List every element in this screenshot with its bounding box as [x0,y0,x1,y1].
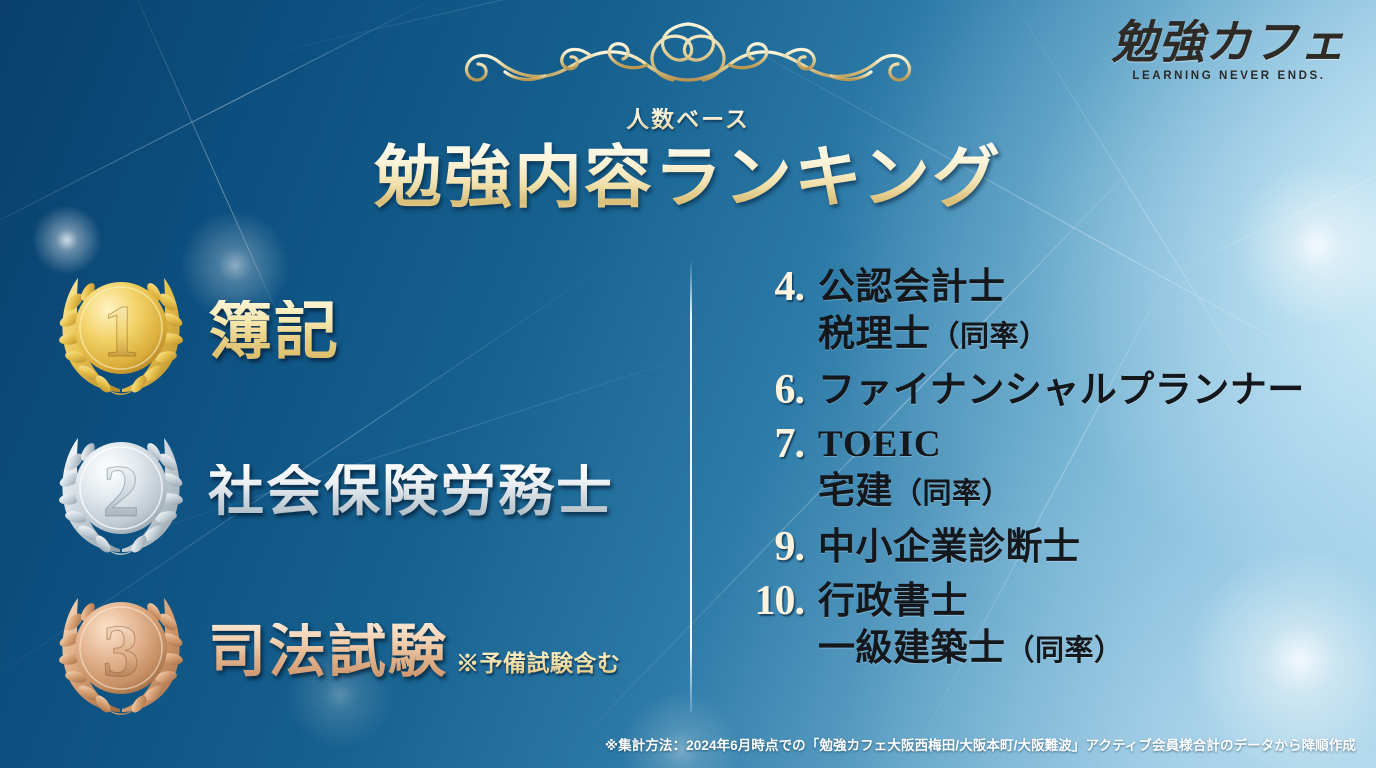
rank-7-name-2: 宅建 [818,471,893,512]
gold-medal-icon: 1 [46,262,196,402]
rank-10-name-2: 一級建築士 [818,628,1006,669]
rank-10-body: 行政書士 一級建築士（同率） [818,576,1124,675]
vertical-divider [690,262,692,712]
rank-7-line-2: 宅建（同率） [818,468,1011,518]
rank-3-note: ※予備試験含む [456,644,621,678]
rank-9-body: 中小企業診断士 [818,522,1081,571]
rank-7-number: 7. [726,419,818,469]
rank-10-line-1: 行政書士 [818,578,1124,625]
top-three-list: 1 簿記 [46,252,686,732]
rank-1-label: 簿記 [208,300,340,364]
rank-row-3: 3 司法試験 ※予備試験含む [46,572,686,732]
methodology-footnote: ※集計方法：2024年6月時点での「勉強カフェ大阪西梅田/大阪本町/大阪難波」ア… [605,734,1356,754]
rank-9-number: 9. [726,522,818,572]
rank-1-name: 簿記 [208,300,340,364]
svg-text:2: 2 [103,451,140,533]
logo-tagline: LEARNING NEVER ENDS. [1104,70,1354,82]
rank-10-tie-2: （同率） [1006,635,1124,667]
rank-row-6: 6. ファイナンシャルプランナー [726,365,1356,415]
rank-4-line-1: 公認会計士 [818,264,1049,311]
rank-row-1: 1 簿記 [46,252,686,412]
rank-row-7: 7. TOEIC 宅建（同率） [726,419,1356,518]
title-block: 人数ベース 勉強内容ランキング [0,108,1376,216]
rank-10-number: 10. [726,576,818,626]
flourish-ornament-icon [453,18,923,104]
logo-wordmark: 勉強カフェ [1104,18,1354,66]
rank-3-label: 司法試験 ※予備試験含む [208,623,621,681]
svg-text:1: 1 [103,291,140,373]
rank-7-tie-2: （同率） [893,478,1011,510]
svg-text:3: 3 [103,611,140,693]
rank-6-line-1: ファイナンシャルプランナー [818,367,1305,414]
page-title: 勉強内容ランキング [0,140,1376,216]
rank-9-line-1: 中小企業診断士 [818,524,1081,571]
poster-canvas: 勉強カフェ LEARNING NEVER ENDS. 人数ベース 勉強内容ランキ… [0,0,1376,768]
rank-6-body: ファイナンシャルプランナー [818,365,1305,414]
rank-row-4: 4. 公認会計士 税理士（同率） [726,262,1356,361]
ranks-four-to-ten-list: 4. 公認会計士 税理士（同率） 6. ファイナンシャルプランナー 7. TOE… [726,262,1356,679]
rank-4-body: 公認会計士 税理士（同率） [818,262,1049,361]
rank-4-number: 4. [726,262,818,312]
rank-3-name: 司法試験 [208,623,448,681]
brand-logo: 勉強カフェ LEARNING NEVER ENDS. [1104,18,1354,82]
rank-row-2: 2 社会保険労務士 [46,412,686,572]
bronze-medal-icon: 3 [46,582,196,722]
page-subtitle: 人数ベース [0,108,1376,131]
rank-4-tie-2: （同率） [931,321,1049,353]
rank-4-line-2: 税理士（同率） [818,311,1049,361]
rank-2-name: 社会保険労務士 [208,464,614,520]
rank-7-body: TOEIC 宅建（同率） [818,419,1011,518]
rank-4-name-2: 税理士 [818,314,931,355]
rank-6-number: 6. [726,365,818,415]
rank-row-10: 10. 行政書士 一級建築士（同率） [726,576,1356,675]
rank-row-9: 9. 中小企業診断士 [726,522,1356,572]
rank-10-line-2: 一級建築士（同率） [818,625,1124,675]
rank-2-label: 社会保険労務士 [208,464,614,520]
silver-medal-icon: 2 [46,422,196,562]
rank-7-line-1: TOEIC [818,421,1011,468]
